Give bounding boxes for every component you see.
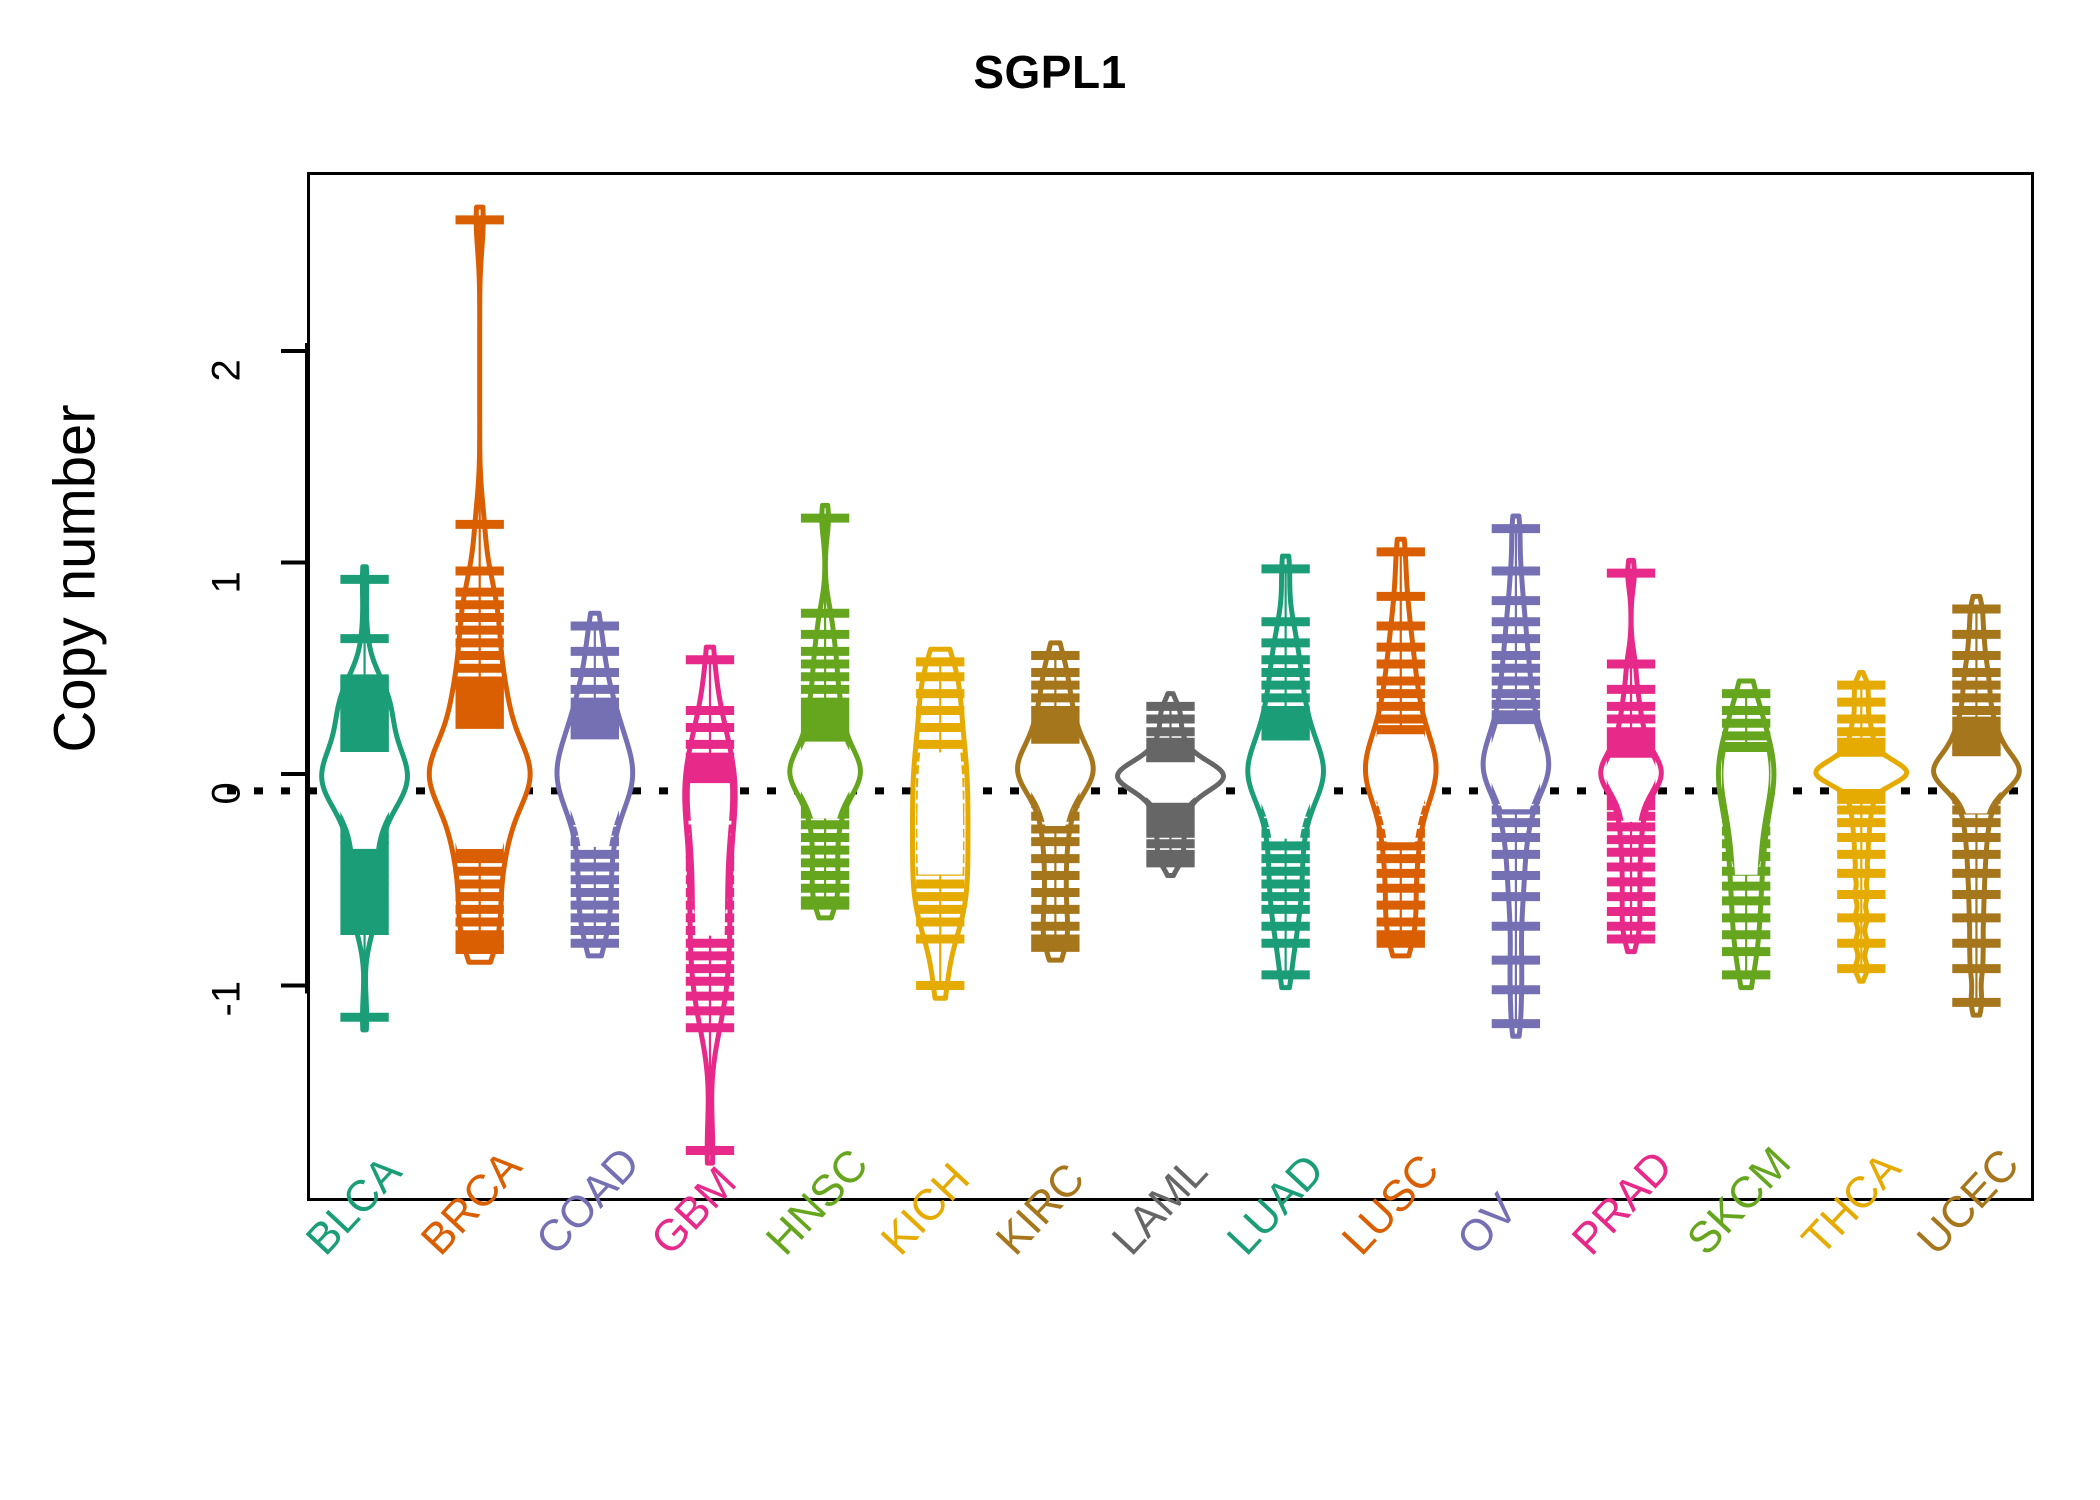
y-axis-title: Copy number (42, 279, 109, 879)
y-tick-label: 0 (205, 745, 250, 805)
chart-title: SGPL1 (0, 45, 2100, 99)
plot-frame (307, 172, 2034, 1201)
y-tick-label: -1 (205, 956, 250, 1016)
y-tick-label: 1 (205, 533, 250, 593)
y-axis (281, 343, 307, 994)
y-tick-label: 2 (205, 322, 250, 382)
chart-canvas: SGPL1 Copy number -1012 BLCABRCACOADGBMH… (0, 0, 2100, 1500)
